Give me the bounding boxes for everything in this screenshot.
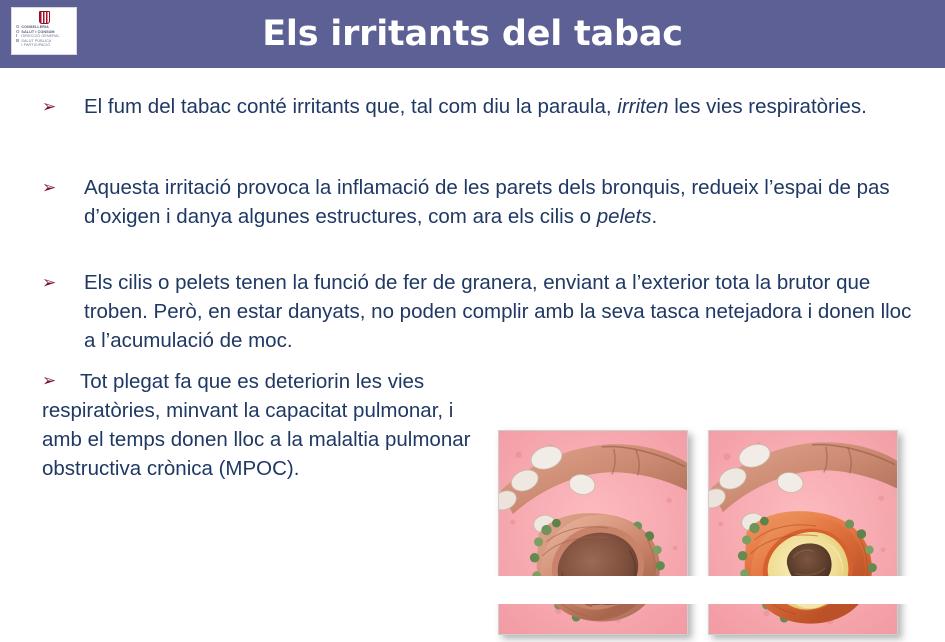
paragraph-text: Els cilis o pelets tenen la funció de fe…	[84, 268, 912, 355]
paragraph-text: El fum del tabac conté irritants que, ta…	[84, 92, 912, 121]
logo-line: I PARTICIPACIÓ	[21, 43, 59, 48]
arrow-bullet-icon: ➢	[42, 367, 56, 396]
arrow-bullet-icon: ➢	[42, 93, 56, 122]
goib-logo: G O I B CONSELLERIA SALUT I CONSUM DIREC…	[11, 7, 77, 55]
slide-header-bar: Els irritants del tabac	[0, 0, 945, 68]
slide-footer-space	[0, 576, 945, 604]
logo-text-block: G O I B CONSELLERIA SALUT I CONSUM DIREC…	[16, 25, 72, 48]
inflamed-bronchus-illustration	[708, 430, 898, 635]
page-title: Els irritants del tabac	[0, 0, 945, 68]
bullet-paragraph-1: ➢ El fum del tabac conté irritants que, …	[42, 92, 912, 121]
logo-acronym: G O I B	[16, 25, 19, 43]
bullet-paragraph-2: ➢ Aquesta irritació provoca la inflamaci…	[42, 173, 912, 231]
paragraph-text: Aquesta irritació provoca la inflamació …	[84, 173, 912, 231]
catalan-bars-crest-icon	[39, 11, 50, 24]
paragraph-text: Tot plegat fa que es deteriorin les vies…	[42, 367, 482, 483]
logo-department-lines: CONSELLERIA SALUT I CONSUM DIRECCIÓ GENE…	[21, 25, 59, 48]
slide-body: ➢ El fum del tabac conté irritants que, …	[0, 68, 945, 604]
logo-acronym-letter: B	[16, 39, 19, 44]
arrow-bullet-icon: ➢	[42, 174, 56, 203]
bullet-paragraph-3: ➢ Els cilis o pelets tenen la funció de …	[42, 268, 912, 355]
bullet-paragraph-4: ➢ Tot plegat fa que es deteriorin les vi…	[42, 367, 482, 483]
figure-group	[498, 430, 898, 642]
healthy-bronchus-illustration	[498, 430, 688, 635]
arrow-bullet-icon: ➢	[42, 269, 56, 298]
